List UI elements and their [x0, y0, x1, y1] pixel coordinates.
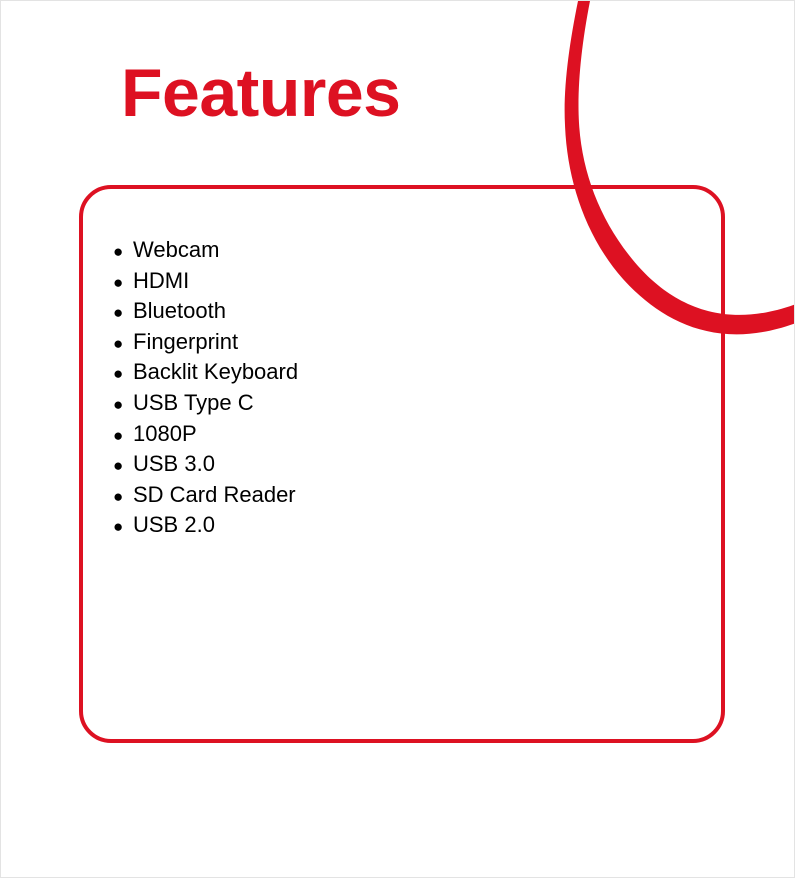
bullet-icon: ● [113, 421, 133, 452]
features-list: ●Webcam ●HDMI ●Bluetooth ●Fingerprint ●B… [113, 235, 673, 541]
bullet-icon: ● [113, 451, 133, 482]
bullet-icon: ● [113, 359, 133, 390]
list-item: ●USB 3.0 [113, 449, 673, 480]
list-item: ●Backlit Keyboard [113, 357, 673, 388]
bullet-icon: ● [113, 237, 133, 268]
list-item: ●SD Card Reader [113, 480, 673, 511]
list-item-label: Backlit Keyboard [133, 357, 298, 388]
list-item-label: Bluetooth [133, 296, 226, 327]
list-item: ●USB 2.0 [113, 510, 673, 541]
list-item-label: USB 3.0 [133, 449, 215, 480]
list-item-label: 1080P [133, 419, 197, 450]
list-item: ●Bluetooth [113, 296, 673, 327]
list-item: ●Webcam [113, 235, 673, 266]
bullet-icon: ● [113, 512, 133, 543]
bullet-icon: ● [113, 482, 133, 513]
list-item: ●USB Type C [113, 388, 673, 419]
list-item: ●HDMI [113, 266, 673, 297]
list-item-label: Fingerprint [133, 327, 238, 358]
bullet-icon: ● [113, 329, 133, 360]
list-item-label: SD Card Reader [133, 480, 296, 511]
page-title: Features [121, 59, 400, 127]
list-item-label: Webcam [133, 235, 219, 266]
list-item-label: USB 2.0 [133, 510, 215, 541]
list-item: ●1080P [113, 419, 673, 450]
bullet-icon: ● [113, 268, 133, 299]
bullet-icon: ● [113, 390, 133, 421]
list-item-label: HDMI [133, 266, 189, 297]
features-slide: Features ●Webcam ●HDMI ●Bluetooth ●Finge… [0, 0, 795, 878]
bullet-icon: ● [113, 298, 133, 329]
list-item-label: USB Type C [133, 388, 254, 419]
list-item: ●Fingerprint [113, 327, 673, 358]
